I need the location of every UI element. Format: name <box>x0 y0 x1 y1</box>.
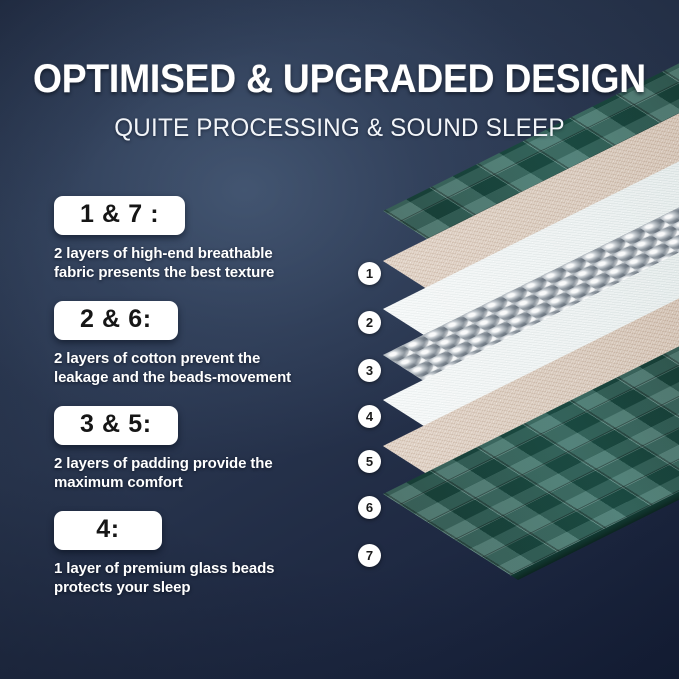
page-title: OPTIMISED & UPGRADED DESIGN <box>24 0 655 102</box>
layer-label-badge: 3 & 5: <box>54 406 178 445</box>
annotation-item: 3 & 5: 2 layers of padding provide the m… <box>54 406 322 492</box>
layer-label-badge: 4: <box>54 511 162 550</box>
header: OPTIMISED & UPGRADED DESIGN QUITE PROCES… <box>0 0 679 143</box>
layer-number-badge-7: 7 <box>358 544 381 567</box>
layer-label-text: 4: <box>96 515 119 543</box>
product-infographic: OPTIMISED & UPGRADED DESIGN QUITE PROCES… <box>0 0 679 679</box>
annotation-item: 1 & 7 : 2 layers of high-end breathable … <box>54 196 322 282</box>
layer-label-text: 2 & 6: <box>80 305 152 333</box>
layer-label-text: 3 & 5: <box>80 410 152 438</box>
layer-number-badge-2: 2 <box>358 311 381 334</box>
layer-label-badge: 1 & 7 : <box>54 196 185 235</box>
layer-number-badge-4: 4 <box>358 405 381 428</box>
layer-number-badge-5: 5 <box>358 450 381 473</box>
annotation-item: 2 & 6: 2 layers of cotton prevent the le… <box>54 301 322 387</box>
layer-description: 2 layers of cotton prevent the leakage a… <box>54 349 314 387</box>
annotation-item: 4: 1 layer of premium glass beads protec… <box>54 511 322 597</box>
layer-number-badge-3: 3 <box>358 359 381 382</box>
layer-description: 2 layers of high-end breathable fabric p… <box>54 244 314 282</box>
layer-label-badge: 2 & 6: <box>54 301 178 340</box>
page-subtitle: QUITE PROCESSING & SOUND SLEEP <box>10 102 669 143</box>
annotation-list: 1 & 7 : 2 layers of high-end breathable … <box>54 196 322 597</box>
layer-label-text: 1 & 7 : <box>80 200 159 228</box>
layer-number-badge-6: 6 <box>358 496 381 519</box>
layer-description: 1 layer of premium glass beads protects … <box>54 559 314 597</box>
layer-number-badge-1: 1 <box>358 262 381 285</box>
layer-description: 2 layers of padding provide the maximum … <box>54 454 314 492</box>
